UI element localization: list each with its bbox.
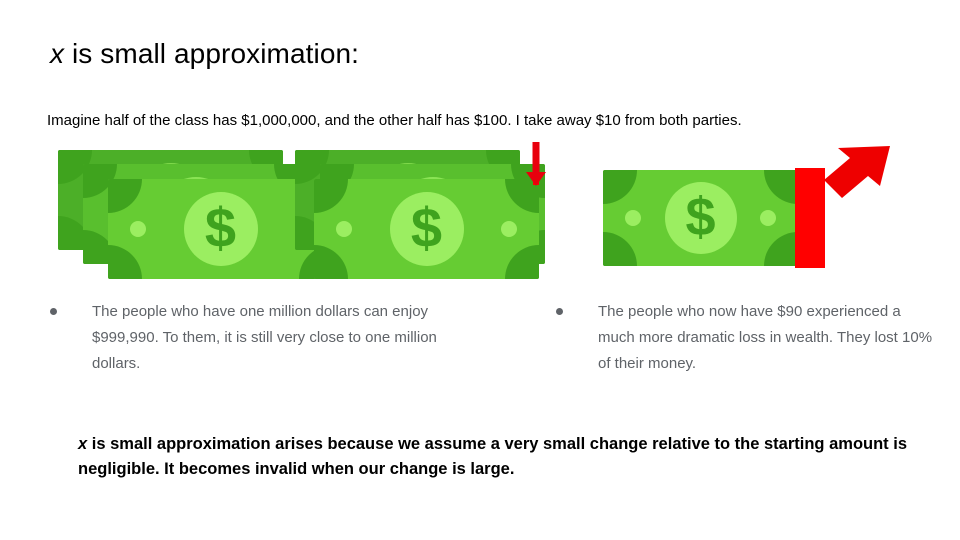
dollar-sign-icon: $ (411, 200, 442, 256)
bill-front: $ (314, 179, 539, 279)
list-item: The people who have one million dollars … (50, 299, 470, 377)
conclusion-text: x is small approximation arises because … (78, 432, 908, 482)
bullet-list-right: The people who now have $90 experienced … (556, 299, 936, 377)
bill-dot (130, 221, 146, 237)
conclusion-variable: x (78, 435, 87, 453)
bill-dot (625, 210, 641, 226)
conclusion-body: is small approximation arises because we… (78, 435, 907, 478)
bill-corner-icon (764, 232, 798, 266)
title-variable: x (50, 38, 64, 69)
bullet-dot-icon (556, 308, 563, 315)
dollar-sign-icon: $ (685, 190, 715, 244)
bill-corner-icon (314, 245, 348, 279)
list-item: The people who now have $90 experienced … (556, 299, 936, 377)
bill-dot (501, 221, 517, 237)
slide-canvas: x is small approximation: Imagine half o… (0, 0, 960, 540)
small-down-arrow-icon (524, 142, 548, 188)
list-item-label: The people who now have $90 experienced … (598, 299, 936, 377)
bill-corner-icon (603, 232, 637, 266)
bill-corner-icon (603, 170, 637, 204)
bill-dot (336, 221, 352, 237)
bill-corner-icon (314, 179, 348, 213)
bill-corner-icon (764, 170, 798, 204)
title-text: is small approximation: (64, 38, 359, 69)
bill-front: $ (603, 170, 798, 266)
intro-sentence: Imagine half of the class has $1,000,000… (47, 110, 742, 132)
dollar-sign-icon: $ (205, 200, 236, 256)
bill-corner-icon (108, 245, 142, 279)
bullet-list-left: The people who have one million dollars … (50, 299, 470, 377)
bill-dot (760, 210, 776, 226)
money-stacks-illustration: $ $ $ $ (52, 146, 552, 286)
single-bill-illustration: $ (596, 140, 896, 275)
bill-corner-icon (108, 179, 142, 213)
bullet-dot-icon (50, 308, 57, 315)
bill-corner-icon (505, 245, 539, 279)
list-item-label: The people who have one million dollars … (92, 299, 470, 377)
large-diagonal-arrow-icon (812, 140, 894, 202)
page-title: x is small approximation: (50, 36, 359, 72)
